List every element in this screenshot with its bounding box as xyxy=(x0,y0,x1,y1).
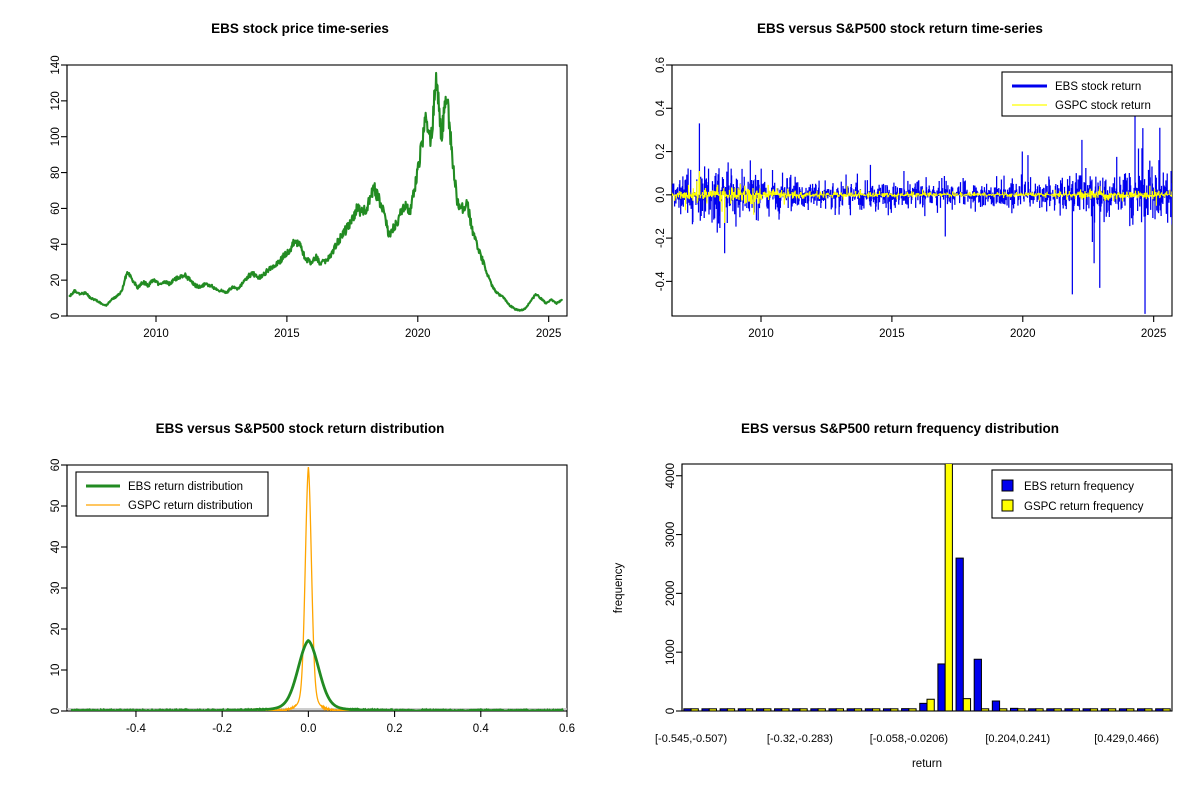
histogram-bin-label: [-0.32,-0.283) xyxy=(767,733,833,745)
histogram-bar-ebs xyxy=(1156,709,1163,711)
x-tick-label: 2010 xyxy=(143,328,169,340)
histogram-bar-ebs xyxy=(938,664,945,711)
returns-ebs-series xyxy=(672,110,1172,313)
histogram-bar-ebs xyxy=(920,703,927,711)
y-tick-label: 0 xyxy=(665,708,677,714)
y-tick-label: 3000 xyxy=(665,522,677,548)
y-tick-label: 20 xyxy=(50,623,62,636)
histogram-bar-ebs xyxy=(974,659,981,711)
histogram-bar-gspc xyxy=(1145,709,1152,711)
histogram-bar-gspc xyxy=(1108,709,1115,711)
histogram-bar-gspc xyxy=(1163,709,1170,711)
histogram-bin-label: [-0.545,-0.507) xyxy=(655,733,727,745)
x-tick-label: 0.6 xyxy=(559,723,575,735)
histogram-bar-ebs xyxy=(793,709,800,711)
y-tick-label: 120 xyxy=(50,91,62,110)
figure-canvas: EBS stock price time-series 020406080100… xyxy=(0,0,1200,800)
histogram-bar-gspc xyxy=(691,709,698,711)
x-tick-label: 2010 xyxy=(748,328,774,340)
density-y-axis: 0102030405060 xyxy=(50,459,67,715)
histogram-bar-gspc xyxy=(1072,709,1079,711)
price-y-axis: 020406080100120140 xyxy=(50,55,67,319)
histogram-bar-gspc xyxy=(1036,709,1043,711)
histogram-bar-gspc xyxy=(836,709,843,711)
histogram-bar-gspc xyxy=(854,709,861,711)
y-tick-label: 80 xyxy=(50,166,62,179)
histogram-bar-ebs xyxy=(1029,709,1036,711)
y-tick-label: 4000 xyxy=(665,463,677,489)
legend-swatch-ebs-frequency xyxy=(1002,480,1013,491)
histogram-bar-ebs xyxy=(756,709,763,711)
x-tick-label: 0.4 xyxy=(473,723,490,735)
y-tick-label: -0.2 xyxy=(655,228,667,248)
x-tick-label: -0.4 xyxy=(126,723,146,735)
panel-density: EBS versus S&P500 stock return distribut… xyxy=(0,400,600,800)
x-tick-label: 2025 xyxy=(536,328,562,340)
histogram-bar-ebs xyxy=(1083,709,1090,711)
panel-price: EBS stock price time-series 020406080100… xyxy=(0,0,600,400)
price-series-line xyxy=(70,73,562,311)
histogram-bar-gspc xyxy=(1018,709,1025,711)
histogram-bar-gspc xyxy=(727,709,734,711)
panel-histogram: EBS versus S&P500 return frequency distr… xyxy=(600,400,1200,800)
histogram-bar-ebs xyxy=(720,709,727,711)
histogram-bin-labels: [-0.545,-0.507)[-0.32,-0.283)[-0.058,-0.… xyxy=(655,733,1159,745)
y-tick-label: 0.2 xyxy=(655,144,667,160)
density-legend: EBS return distribution GSPC return dist… xyxy=(76,472,268,516)
x-tick-label: 2015 xyxy=(879,328,905,340)
legend-swatch-gspc-frequency xyxy=(1002,500,1013,511)
y-tick-label: 20 xyxy=(50,274,62,287)
histogram-x-axis-label: return xyxy=(912,758,942,770)
y-tick-label: 0 xyxy=(50,313,62,319)
y-tick-label: 0.6 xyxy=(655,57,667,73)
histogram-bar-ebs xyxy=(883,709,890,711)
legend-label-gspc-frequency: GSPC return frequency xyxy=(1024,501,1144,513)
legend-label-ebs-distribution: EBS return distribution xyxy=(128,481,243,493)
density-x-axis: -0.4-0.20.00.20.40.6 xyxy=(67,711,575,735)
y-tick-label: 0.0 xyxy=(655,187,667,203)
x-tick-label: 2025 xyxy=(1141,328,1167,340)
histogram-bar-gspc xyxy=(927,699,934,711)
y-tick-label: 0.4 xyxy=(655,100,667,117)
histogram-bar-gspc xyxy=(800,709,807,711)
histogram-bar-ebs xyxy=(956,558,963,711)
histogram-bar-ebs xyxy=(1065,709,1072,711)
density-ebs-curve xyxy=(71,641,562,711)
panel-density-title: EBS versus S&P500 stock return distribut… xyxy=(156,421,445,436)
histogram-y-axis-label: frequency xyxy=(613,563,625,614)
y-tick-label: 40 xyxy=(50,541,62,554)
x-tick-label: -0.2 xyxy=(212,723,232,735)
histogram-bar-gspc xyxy=(818,709,825,711)
histogram-bar-ebs xyxy=(829,709,836,711)
histogram-bar-gspc xyxy=(891,709,898,711)
legend-label-ebs-frequency: EBS return frequency xyxy=(1024,481,1134,493)
panel-price-title: EBS stock price time-series xyxy=(211,21,389,36)
histogram-bar-gspc xyxy=(782,709,789,711)
histogram-bar-gspc xyxy=(764,709,771,711)
histogram-bar-ebs xyxy=(1010,708,1017,711)
x-tick-label: 2015 xyxy=(274,328,300,340)
histogram-bar-ebs xyxy=(1101,709,1108,711)
y-tick-label: 40 xyxy=(50,238,62,251)
x-tick-label: 2020 xyxy=(405,328,431,340)
y-tick-label: -0.4 xyxy=(655,271,667,291)
returns-legend: EBS stock return GSPC stock return xyxy=(1002,72,1172,116)
histogram-bin-label: [0.204,0.241) xyxy=(985,733,1050,745)
histogram-bin-label: [0.429,0.466) xyxy=(1094,733,1159,745)
histogram-legend: EBS return frequency GSPC return frequen… xyxy=(992,470,1172,518)
y-tick-label: 1000 xyxy=(665,639,677,665)
x-tick-label: 2020 xyxy=(1010,328,1036,340)
y-tick-label: 0 xyxy=(50,708,62,714)
histogram-bar-gspc xyxy=(1090,709,1097,711)
histogram-bar-ebs xyxy=(738,709,745,711)
histogram-bar-gspc xyxy=(963,699,970,711)
histogram-bar-ebs xyxy=(902,709,909,711)
histogram-bar-gspc xyxy=(746,709,753,711)
histogram-bar-ebs xyxy=(847,709,854,711)
histogram-bar-gspc xyxy=(873,709,880,711)
x-tick-label: 0.2 xyxy=(387,723,403,735)
returns-y-axis: -0.4-0.20.00.20.40.6 xyxy=(655,57,672,316)
y-tick-label: 2000 xyxy=(665,581,677,607)
histogram-bar-gspc xyxy=(981,709,988,711)
y-tick-label: 60 xyxy=(50,202,62,215)
price-x-axis: 2010201520202025 xyxy=(67,316,567,340)
histogram-bar-gspc xyxy=(1127,709,1134,711)
histogram-bar-gspc xyxy=(1000,709,1007,711)
y-tick-label: 10 xyxy=(50,664,62,677)
histogram-bar-ebs xyxy=(684,709,691,711)
price-plot-box xyxy=(67,65,567,316)
histogram-bar-gspc xyxy=(1054,709,1061,711)
histogram-bar-gspc xyxy=(945,461,952,711)
histogram-y-axis: 01000200030004000 frequency xyxy=(613,463,682,714)
histogram-bar-ebs xyxy=(702,709,709,711)
panel-returns-title: EBS versus S&P500 stock return time-seri… xyxy=(757,21,1043,36)
histogram-bar-ebs xyxy=(1119,709,1126,711)
y-tick-label: 30 xyxy=(50,582,62,595)
histogram-bin-label: [-0.058,-0.0206) xyxy=(870,733,948,745)
histogram-bar-gspc xyxy=(909,709,916,711)
histogram-bar-ebs xyxy=(811,709,818,711)
y-tick-label: 60 xyxy=(50,459,62,472)
histogram-bar-ebs xyxy=(1138,709,1145,711)
y-tick-label: 100 xyxy=(50,127,62,146)
legend-label-ebs-return: EBS stock return xyxy=(1055,81,1141,93)
legend-label-gspc-distribution: GSPC return distribution xyxy=(128,500,253,512)
histogram-bar-gspc xyxy=(709,709,716,711)
y-tick-label: 50 xyxy=(50,500,62,513)
histogram-bar-ebs xyxy=(775,709,782,711)
histogram-bar-ebs xyxy=(1047,709,1054,711)
returns-x-axis: 2010201520202025 xyxy=(672,316,1172,340)
histogram-bar-ebs xyxy=(992,701,999,711)
y-tick-label: 140 xyxy=(50,55,62,74)
x-tick-label: 0.0 xyxy=(300,723,316,735)
panel-returns: EBS versus S&P500 stock return time-seri… xyxy=(600,0,1200,400)
panel-histogram-title: EBS versus S&P500 return frequency distr… xyxy=(741,421,1059,436)
histogram-bar-ebs xyxy=(865,709,872,711)
legend-label-gspc-return: GSPC stock return xyxy=(1055,100,1151,112)
